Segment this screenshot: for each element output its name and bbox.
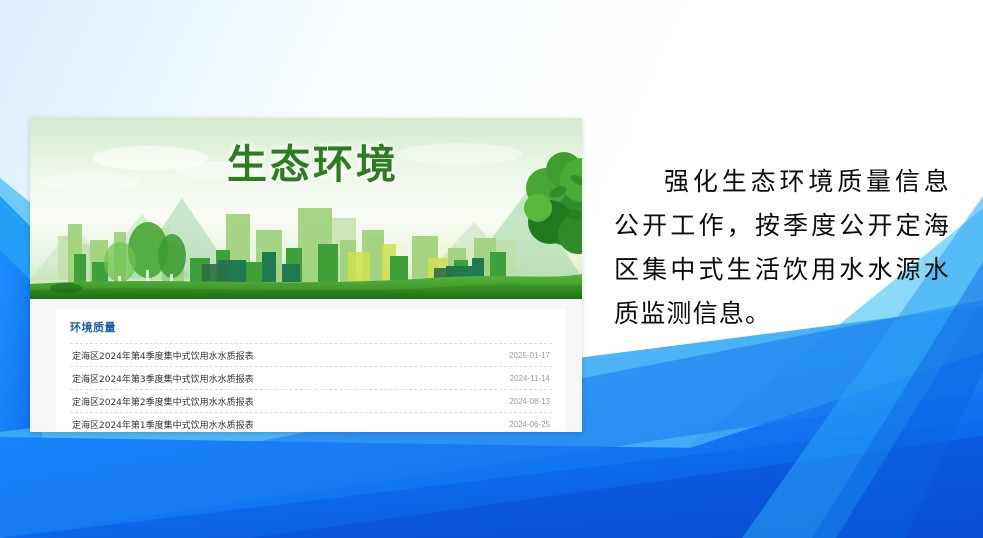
list-item-date: 2025-01-17: [509, 351, 550, 360]
body-paragraph: 强化生态环境质量信息公开工作，按季度公开定海区集中式生活饮用水水源水质监测信息。: [614, 160, 950, 336]
list-item-date: 2024-11-14: [510, 374, 550, 383]
list-item-title: 定海区2024年第3季度集中式饮用水水质报表: [72, 372, 254, 385]
list-item-title: 定海区2024年第4季度集中式饮用水水质报表: [72, 349, 254, 362]
banner-title: 生态环境: [30, 132, 582, 190]
environment-quality-panel: 环境质量 定海区2024年第4季度集中式饮用水水质报表 2025-01-17 定…: [56, 309, 566, 432]
list-item[interactable]: 定海区2024年第2季度集中式饮用水水质报表 2024-08-13: [70, 389, 552, 412]
list-item-title: 定海区2024年第1季度集中式饮用水水质报表: [72, 418, 254, 431]
slide-canvas: 生态环境 环境质量 定海区2024年第4季度集中式饮用水水质报表 2025-01…: [0, 0, 983, 538]
site-content-area: 环境质量 定海区2024年第4季度集中式饮用水水质报表 2025-01-17 定…: [30, 299, 582, 432]
panel-title: 环境质量: [70, 318, 552, 343]
list-item-title: 定海区2024年第2季度集中式饮用水水质报表: [72, 395, 254, 408]
list-item[interactable]: 定海区2024年第4季度集中式饮用水水质报表 2025-01-17: [70, 343, 552, 366]
list-item-date: 2024-06-25: [509, 420, 550, 429]
list-item-date: 2024-08-13: [509, 397, 550, 406]
site-banner: 生态环境: [30, 118, 582, 299]
list-item[interactable]: 定海区2024年第3季度集中式饮用水水质报表 2024-11-14: [70, 366, 552, 389]
website-screenshot-card: 生态环境 环境质量 定海区2024年第4季度集中式饮用水水质报表 2025-01…: [30, 118, 582, 432]
list-item[interactable]: 定海区2024年第1季度集中式饮用水水质报表 2024-06-25: [70, 412, 552, 432]
